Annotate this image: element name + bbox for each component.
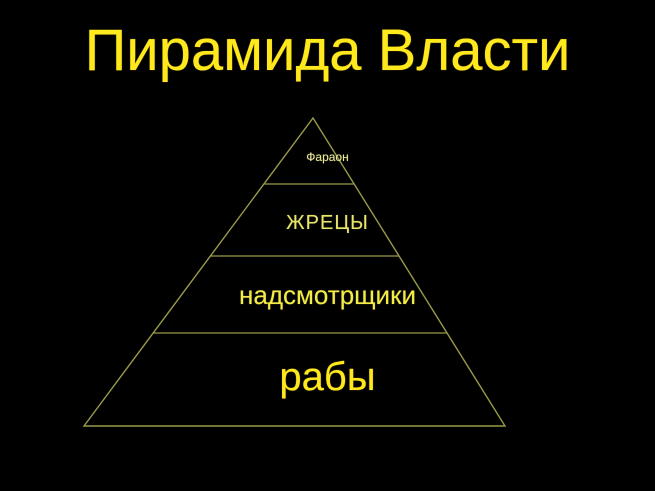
pyramid-tier-label-3: надсмотрщики xyxy=(0,280,655,310)
pyramid-outline-svg xyxy=(0,0,655,491)
pyramid-tier-label-2: ЖРЕЦЫ xyxy=(0,211,655,235)
pyramid-tier-label-4: рабы xyxy=(0,354,655,400)
slide-canvas: Пирамида Власти Фараон ЖРЕЦЫ надсмотрщик… xyxy=(0,0,655,491)
pyramid-tier-label-1: Фараон xyxy=(0,150,655,164)
power-pyramid-figure xyxy=(0,0,655,491)
